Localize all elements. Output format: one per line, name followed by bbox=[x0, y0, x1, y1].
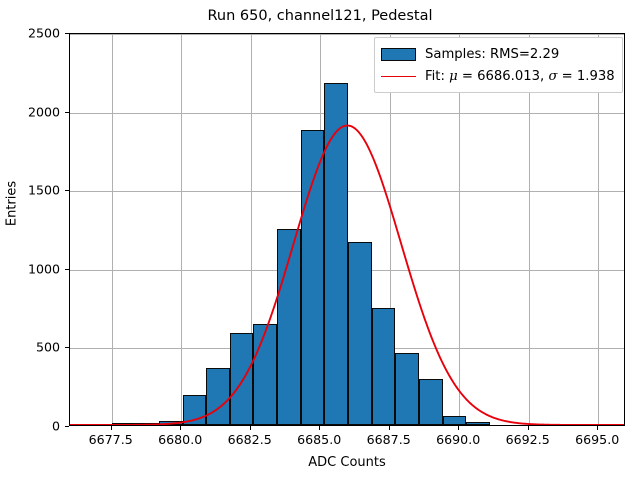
y-tick-mark bbox=[65, 426, 69, 427]
y-axis-label: Entries bbox=[5, 114, 20, 294]
y-tick-mark bbox=[65, 112, 69, 113]
x-tick-label: 6680.0 bbox=[158, 432, 202, 447]
legend-entry-fit: Fit: μ = 6686.013, σ = 1.938 bbox=[381, 65, 615, 87]
x-tick-label: 6690.0 bbox=[436, 432, 480, 447]
x-tick-label: 6685.0 bbox=[297, 432, 341, 447]
y-tick-mark bbox=[65, 33, 69, 34]
y-tick-label: 2500 bbox=[0, 26, 60, 41]
sigma-value: = 1.938 bbox=[557, 69, 614, 84]
x-tick-mark bbox=[389, 426, 390, 430]
matplotlib-figure: Run 650, channel121, Pedestal 6677.56680… bbox=[0, 0, 640, 480]
x-tick-label: 6695.0 bbox=[575, 432, 619, 447]
legend-label-samples: Samples: RMS=2.29 bbox=[425, 47, 559, 62]
legend-patch-swatch-icon bbox=[381, 48, 416, 61]
y-tick-mark bbox=[65, 190, 69, 191]
y-tick-label: 500 bbox=[0, 340, 60, 355]
legend-line-swatch-icon bbox=[381, 76, 416, 77]
legend-fit-prefix: Fit: bbox=[425, 69, 449, 84]
fit-curve-path bbox=[70, 126, 624, 425]
y-tick-label: 0 bbox=[0, 419, 60, 434]
x-tick-label: 6677.5 bbox=[89, 432, 133, 447]
x-tick-label: 6682.5 bbox=[228, 432, 272, 447]
x-tick-label: 6692.5 bbox=[506, 432, 550, 447]
x-tick-mark bbox=[528, 426, 529, 430]
x-tick-mark bbox=[111, 426, 112, 430]
y-tick-mark bbox=[65, 269, 69, 270]
x-tick-mark bbox=[250, 426, 251, 430]
legend-entry-samples: Samples: RMS=2.29 bbox=[381, 43, 615, 65]
x-tick-mark bbox=[180, 426, 181, 430]
legend: Samples: RMS=2.29 Fit: μ = 6686.013, σ =… bbox=[374, 37, 623, 93]
x-axis-label: ADC Counts bbox=[69, 455, 625, 470]
x-tick-label: 6687.5 bbox=[367, 432, 411, 447]
y-tick-mark bbox=[65, 347, 69, 348]
mu-symbol: μ bbox=[449, 69, 458, 84]
mu-value: = 6686.013, bbox=[458, 69, 549, 84]
x-tick-mark bbox=[458, 426, 459, 430]
legend-label-fit: Fit: μ = 6686.013, σ = 1.938 bbox=[425, 69, 615, 84]
x-tick-mark bbox=[319, 426, 320, 430]
chart-title: Run 650, channel121, Pedestal bbox=[0, 8, 640, 24]
x-tick-mark bbox=[597, 426, 598, 430]
